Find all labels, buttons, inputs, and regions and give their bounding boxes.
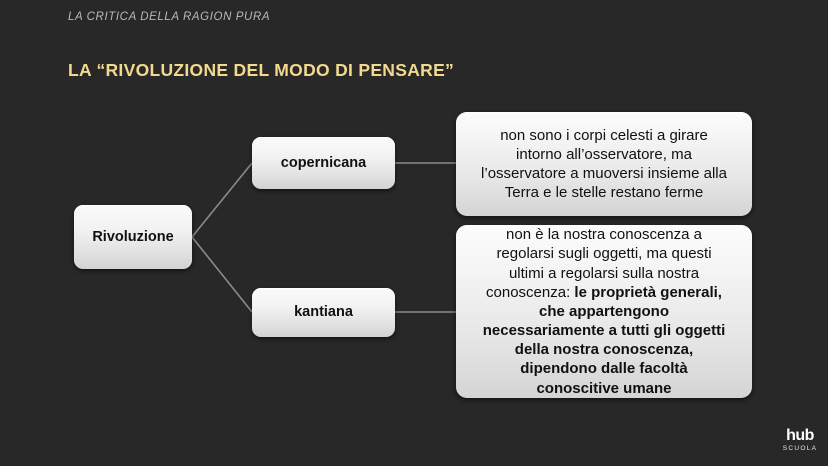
diagram-node-rivoluzione: Rivoluzione <box>74 205 192 269</box>
diagram-content-box-copernicana: non sono i corpi celesti a girareintorno… <box>456 112 752 216</box>
diagram-node-kantiana: kantiana <box>252 288 395 337</box>
connector-root-to-kantiana <box>192 237 252 312</box>
diagram-node-rivoluzione-label: Rivoluzione <box>92 229 173 246</box>
hub-scuola-logo-subtitle: SCUOLA <box>779 446 821 453</box>
diagram-node-copernicana: copernicana <box>252 137 395 189</box>
diagram-content-box-kantiana: non è la nostra conoscenza aregolarsi su… <box>456 225 752 398</box>
diagram-content-kantiana-text: non è la nostra conoscenza aregolarsi su… <box>468 225 740 398</box>
diagram-node-copernicana-label: copernicana <box>281 155 366 172</box>
hub-scuola-logo-word: hub <box>779 428 821 444</box>
connector-root-to-copernicana <box>192 163 252 237</box>
diagram-node-kantiana-label: kantiana <box>294 304 353 321</box>
page-title: LA “RIVOLUZIONE DEL MODO DI PENSARE” <box>68 60 454 81</box>
hub-scuola-logo: hub SCUOLA <box>779 428 821 453</box>
slide-canvas: LA CRITICA DELLA RAGION PURA LA “RIVOLUZ… <box>0 0 828 466</box>
diagram-content-copernicana-text: non sono i corpi celesti a girareintorno… <box>468 126 740 203</box>
slide-eyebrow-heading: LA CRITICA DELLA RAGION PURA <box>68 11 270 23</box>
